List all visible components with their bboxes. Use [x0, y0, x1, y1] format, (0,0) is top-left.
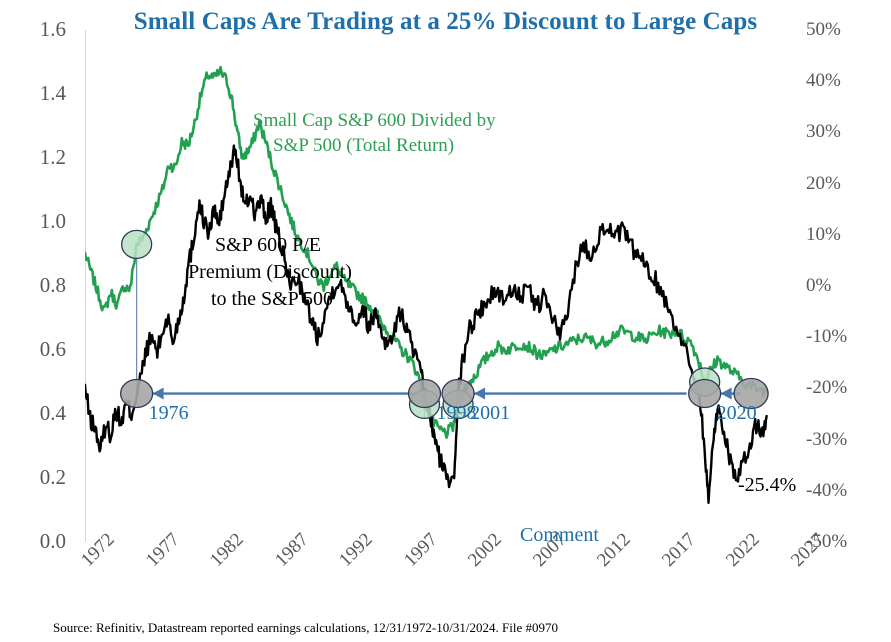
left-axis-tick: 0.2	[8, 467, 66, 488]
right-axis-tick: 10%	[806, 225, 891, 244]
year-callout-label: 1976	[149, 402, 189, 425]
left-axis-tick: 0.8	[8, 275, 66, 296]
year-callout-label: 2020	[717, 402, 757, 425]
right-axis-tick: 30%	[806, 122, 891, 141]
year-callout-label: 2001	[470, 402, 510, 425]
left-axis-tick: 1.0	[8, 211, 66, 232]
right-axis-tick: -20%	[806, 378, 891, 397]
baseline-arrow	[474, 388, 687, 400]
left-axis-tick: 0.0	[8, 531, 66, 552]
right-axis-tick: 40%	[806, 71, 891, 90]
black-series-label-line2: Premium (Discount)	[145, 259, 395, 286]
left-axis-tick: 1.6	[8, 19, 66, 40]
left-axis-tick: 0.4	[8, 403, 66, 424]
plot-area: Small Cap S&P 600 Divided by S&P 500 (To…	[85, 30, 795, 542]
source-note: Source: Refinitiv, Datastream reported e…	[53, 620, 558, 636]
left-axis-tick: 0.6	[8, 339, 66, 360]
right-axis-tick: -10%	[806, 327, 891, 346]
right-axis-tick: -30%	[806, 430, 891, 449]
left-axis-tick: 1.2	[8, 147, 66, 168]
black-series-line	[85, 146, 767, 503]
green-series-label-line2: S&P 500 (Total Return)	[273, 133, 454, 158]
comment-label: Comment	[520, 524, 599, 547]
right-axis-tick: -40%	[806, 481, 891, 500]
baseline-arrow	[153, 388, 421, 400]
end-value-label: -25.4%	[738, 474, 796, 497]
left-axis-tick: 1.4	[8, 83, 66, 104]
black-series-label-line1: S&P 600 P/E	[173, 232, 363, 259]
black-series-label-line3: to the S&P 500	[157, 286, 387, 313]
right-axis-tick: 20%	[806, 174, 891, 193]
chart-container: Small Caps Are Trading at a 25% Discount…	[0, 0, 891, 642]
right-axis-tick: 0%	[806, 276, 891, 295]
right-axis-tick: 50%	[806, 20, 891, 39]
left-axis: 0.00.20.40.60.81.01.21.41.6	[0, 0, 66, 642]
green-callout-marker	[122, 230, 152, 258]
green-series-label-line1: Small Cap S&P 600 Divided by	[253, 108, 496, 133]
